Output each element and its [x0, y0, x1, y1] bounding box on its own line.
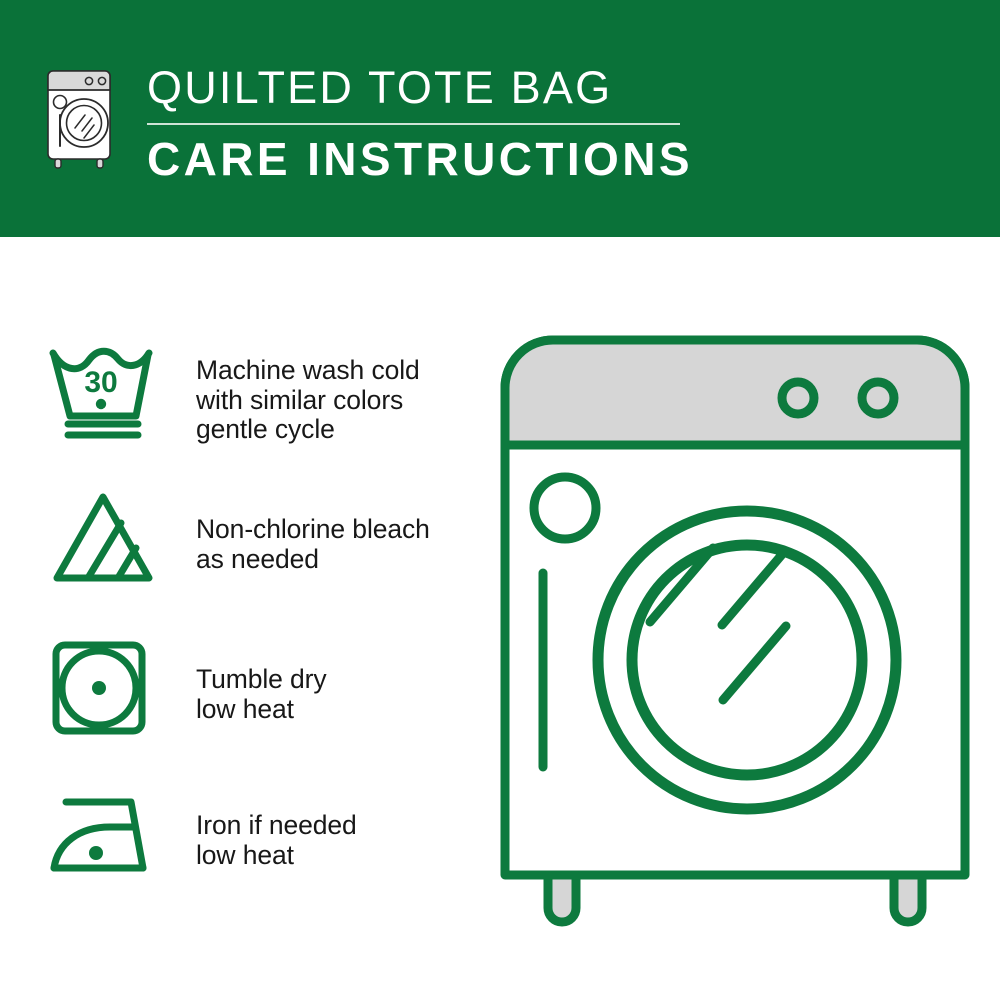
washing-machine-icon [44, 66, 118, 170]
care-text-line: gentle cycle [196, 415, 420, 445]
care-row: Tumble dry low heat [0, 637, 480, 742]
care-text-line: Iron if needed [196, 811, 357, 841]
leg-left [548, 875, 576, 922]
care-text-line: Non-chlorine bleach [196, 515, 430, 545]
care-text-line: low heat [196, 695, 327, 725]
non-chlorine-bleach-triangle-icon [48, 487, 158, 592]
care-instructions-infographic: QUILTED TOTE BAG CARE INSTRUCTIONS [0, 0, 1000, 1000]
care-instruction-list: 30 Machine wash cold with similar colors… [0, 237, 480, 1000]
leg-right [894, 875, 922, 922]
care-text-line: low heat [196, 841, 357, 871]
care-text-line: as needed [196, 545, 430, 575]
care-text-line: with similar colors [196, 386, 420, 416]
wash-tub-30-gentle-icon: 30 [48, 342, 158, 447]
care-row: Non-chlorine bleach as needed [0, 487, 480, 592]
title-divider [147, 123, 680, 125]
tumble-dry-low-heat-icon [48, 637, 158, 742]
care-text: Iron if needed low heat [196, 785, 357, 870]
care-text: Machine wash cold with similar colors ge… [196, 342, 420, 445]
front-load-washing-machine-illustration [495, 330, 975, 940]
page-title: QUILTED TOTE BAG [147, 62, 827, 114]
header-text-block: QUILTED TOTE BAG CARE INSTRUCTIONS [147, 62, 827, 186]
care-row: 30 Machine wash cold with similar colors… [0, 342, 480, 447]
care-text: Non-chlorine bleach as needed [196, 487, 430, 574]
care-row: Iron if needed low heat [0, 785, 480, 890]
care-text: Tumble dry low heat [196, 637, 327, 724]
page-subtitle: CARE INSTRUCTIONS [147, 132, 827, 186]
care-text-line: Tumble dry [196, 665, 327, 695]
header-band: QUILTED TOTE BAG CARE INSTRUCTIONS [0, 0, 1000, 237]
iron-low-heat-icon [48, 785, 158, 890]
care-text-line: Machine wash cold [196, 356, 420, 386]
wash-temperature-label: 30 [84, 366, 117, 399]
